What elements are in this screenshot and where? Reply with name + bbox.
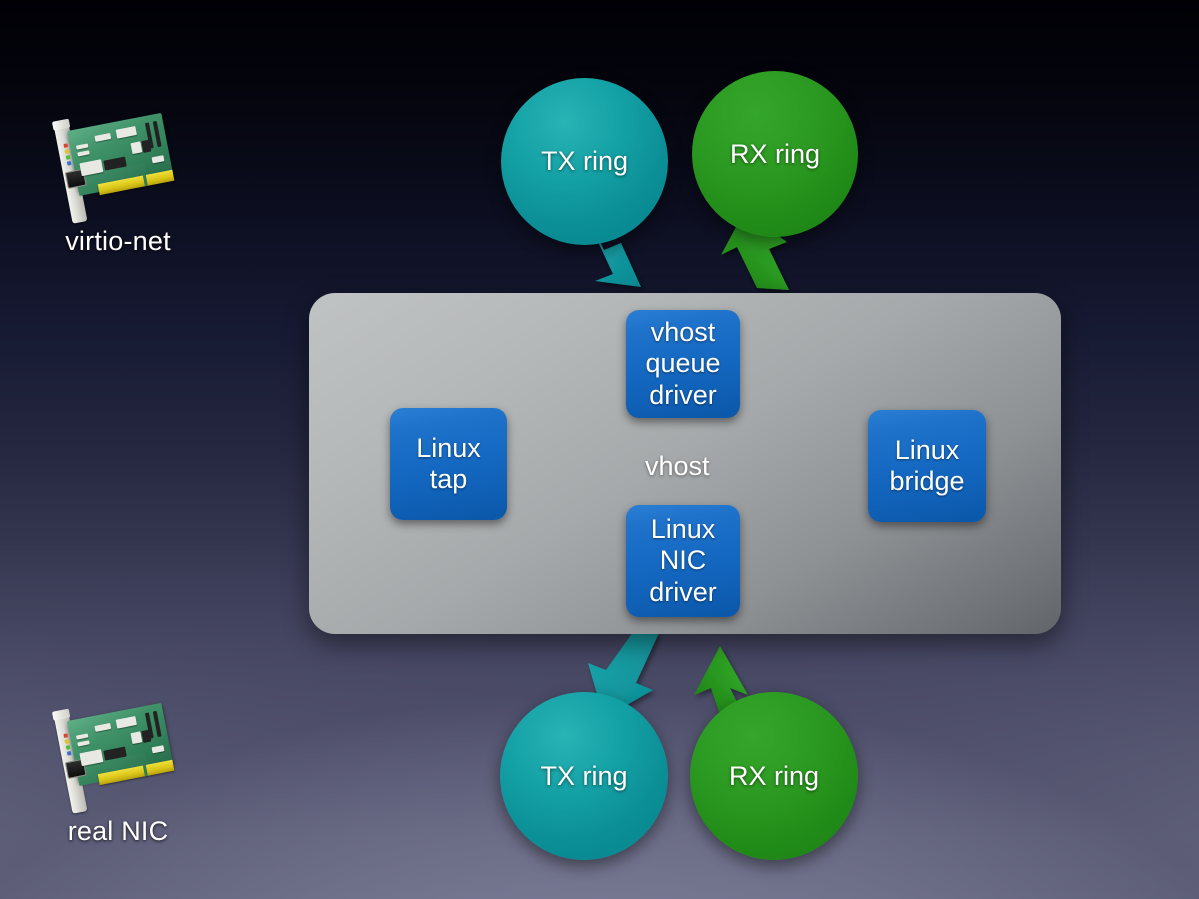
box-line: queue — [645, 348, 720, 379]
box-line: Linux — [895, 435, 960, 466]
box-line: bridge — [889, 466, 964, 497]
box-line: tap — [430, 464, 468, 495]
box-linux-nic-driver[interactable]: Linux NIC driver — [626, 505, 740, 617]
diagram-canvas: TX ring RX ring vhost queue driver Linux… — [0, 0, 1199, 899]
vhost-caption: vhost — [645, 451, 710, 482]
box-linux-tap[interactable]: Linux tap — [390, 408, 507, 520]
card-chip-e — [130, 731, 142, 744]
box-line: driver — [649, 577, 717, 608]
box-line: NIC — [660, 545, 707, 576]
box-line: Linux — [416, 433, 481, 464]
card-led-yellow — [65, 149, 70, 154]
ring-nic-tx[interactable]: TX ring — [500, 692, 668, 860]
box-linux-bridge[interactable]: Linux bridge — [868, 410, 986, 522]
box-line: Linux — [651, 514, 716, 545]
card-led-green — [66, 155, 71, 160]
ring-guest-rx[interactable]: RX ring — [692, 71, 858, 237]
ring-label: RX ring — [730, 139, 820, 170]
card-led-blue — [67, 161, 72, 166]
device-label-real-nic: real NIC — [48, 816, 188, 847]
box-line: vhost — [651, 317, 716, 348]
device-real-nic[interactable]: real NIC — [48, 698, 188, 808]
ring-label: RX ring — [729, 761, 819, 792]
device-label-virtio-net: virtio-net — [48, 226, 188, 257]
card-chip-e — [130, 141, 142, 154]
pci-network-card-icon — [39, 96, 197, 231]
card-led-green — [66, 745, 71, 750]
card-led-blue — [67, 751, 72, 756]
card-led-yellow — [65, 739, 70, 744]
card-led-red — [63, 733, 68, 738]
box-line: driver — [649, 380, 717, 411]
box-vhost-queue-driver[interactable]: vhost queue driver — [626, 310, 740, 418]
ring-nic-rx[interactable]: RX ring — [690, 692, 858, 860]
ring-guest-tx[interactable]: TX ring — [501, 78, 668, 245]
pci-network-card-icon — [39, 686, 197, 821]
device-virtio-net[interactable]: virtio-net — [48, 108, 188, 218]
ring-label: TX ring — [541, 146, 628, 177]
ring-label: TX ring — [540, 761, 627, 792]
card-led-red — [63, 143, 68, 148]
